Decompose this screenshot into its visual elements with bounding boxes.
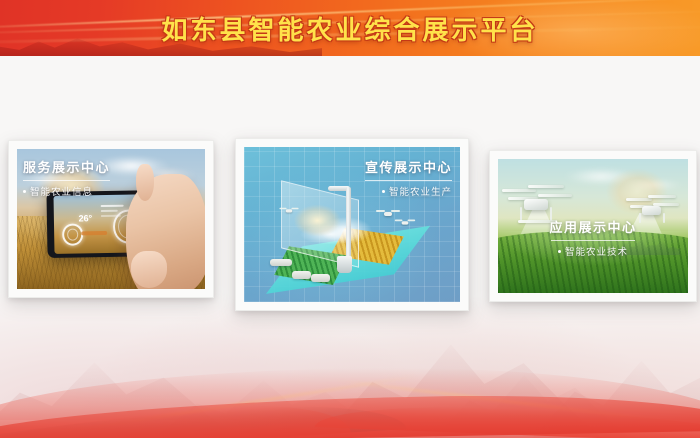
card-text-block: 服务展示中心 智能农业信息 bbox=[23, 157, 110, 198]
bullet-dot-icon bbox=[382, 190, 385, 193]
header-banner: 如东县智能农业综合展示平台 bbox=[0, 0, 700, 56]
hay-roll bbox=[311, 274, 330, 282]
hud-temperature-value: 26° bbox=[79, 214, 93, 224]
finger bbox=[136, 164, 154, 201]
title-divider bbox=[365, 180, 452, 181]
mountain-ridge bbox=[532, 352, 700, 438]
card-text-block: 应用展示中心 智能农业技术 bbox=[498, 217, 688, 258]
sky-projection bbox=[287, 200, 382, 250]
card-service-display-center[interactable]: 26° 服务展示中心 智能农业信息 bbox=[8, 140, 214, 298]
card-image-frame: 26° 服务展示中心 智能农业信息 bbox=[17, 149, 205, 289]
lamp-pole bbox=[346, 187, 351, 261]
hud-bar bbox=[101, 210, 117, 212]
title-divider bbox=[23, 180, 110, 181]
card-title: 服务展示中心 bbox=[23, 157, 110, 176]
hud-chip bbox=[81, 231, 108, 236]
card-image-frame: 宣传展示中心 智能农业生产 bbox=[244, 147, 460, 302]
drone-icon bbox=[281, 207, 297, 214]
card-text-block: 宣传展示中心 智能农业生产 bbox=[365, 157, 452, 198]
card-title: 应用展示中心 bbox=[498, 217, 688, 236]
hay-roll bbox=[292, 271, 311, 279]
page-title: 如东县智能农业综合展示平台 bbox=[0, 0, 700, 56]
card-title: 宣传展示中心 bbox=[365, 157, 452, 176]
card-subtitle: 智能农业技术 bbox=[565, 244, 628, 258]
card-application-display-center[interactable]: 应用展示中心 智能农业技术 bbox=[489, 150, 697, 302]
hud-bar bbox=[101, 205, 124, 207]
water-tank bbox=[337, 256, 352, 273]
hand bbox=[126, 174, 205, 289]
drone-icon bbox=[397, 219, 414, 227]
card-publicity-display-center[interactable]: 宣传展示中心 智能农业生产 bbox=[235, 138, 469, 311]
finger bbox=[131, 251, 167, 288]
hud-bar bbox=[101, 214, 121, 216]
card-subtitle: 智能农业信息 bbox=[30, 184, 93, 198]
bullet-dot-icon bbox=[558, 250, 561, 253]
title-divider bbox=[551, 240, 635, 241]
hay-roll bbox=[270, 259, 292, 267]
bullet-dot-icon bbox=[23, 190, 26, 193]
hud-ring-icon bbox=[62, 223, 83, 245]
card-image-frame: 应用展示中心 智能农业技术 bbox=[498, 159, 688, 293]
drone-icon bbox=[378, 209, 398, 218]
card-subtitle: 智能农业生产 bbox=[389, 184, 452, 198]
